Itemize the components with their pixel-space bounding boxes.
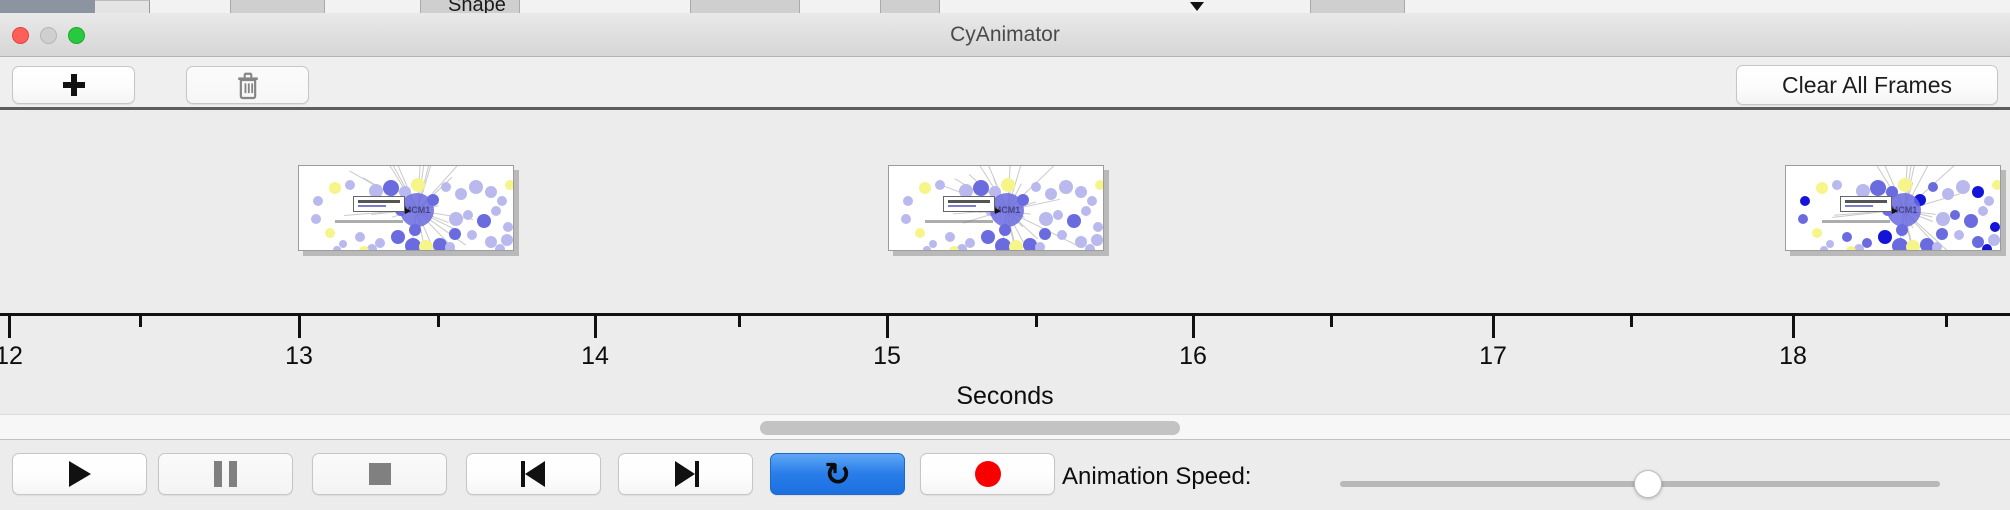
pause-icon: [214, 461, 237, 487]
network-node: [359, 246, 369, 251]
network-node: [935, 180, 945, 190]
animation-speed-label: Animation Speed:: [1062, 463, 1251, 491]
network-node: [313, 196, 323, 206]
network-node: [1820, 246, 1828, 251]
timeline-tick: [1630, 316, 1633, 327]
network-node: [449, 212, 463, 226]
network-node: [491, 206, 501, 216]
frame-thumbnail[interactable]: MCM1: [298, 165, 514, 251]
network-node: [503, 222, 513, 232]
timeline-scrollbar-track[interactable]: [0, 414, 2010, 440]
network-node: [1093, 222, 1103, 232]
network-node: [411, 178, 425, 192]
network-node: [1087, 196, 1097, 206]
network-preview: MCM1: [889, 166, 1103, 250]
network-node: [901, 214, 911, 224]
network-node: [1059, 180, 1073, 194]
clear-all-frames-button[interactable]: Clear All Frames: [1736, 65, 1998, 105]
network-node: [1798, 214, 1808, 224]
network-node: [1954, 230, 1964, 240]
delete-frame-button[interactable]: [186, 66, 309, 104]
network-node: [923, 246, 931, 251]
network-node: [919, 182, 931, 194]
network-node: [1081, 206, 1091, 216]
network-node: [345, 180, 355, 190]
network-node: [1988, 234, 2000, 246]
timeline-tick: [1792, 316, 1795, 338]
network-node: [949, 246, 959, 251]
network-node: [497, 196, 507, 206]
background-gray-block: [690, 0, 800, 13]
timeline-tick: [886, 316, 889, 338]
network-node: [445, 242, 455, 251]
timeline-axis-line: [0, 313, 2010, 316]
network-node: [1035, 242, 1045, 251]
network-tooltip: [1840, 196, 1892, 212]
network-node: [441, 182, 451, 192]
network-node: [455, 188, 467, 200]
network-node: [1898, 178, 1912, 192]
timeline-tick: [1945, 316, 1948, 327]
next-button[interactable]: [618, 453, 753, 495]
network-node: [1053, 210, 1063, 220]
timeline-tick-label: 15: [873, 342, 901, 371]
network-annotation: [1822, 220, 1890, 223]
network-node: [1972, 186, 1984, 198]
network-node: [1816, 182, 1828, 194]
network-preview: MCM1: [299, 166, 513, 250]
timeline-tick: [139, 316, 142, 327]
background-tab: [95, 0, 150, 13]
network-tooltip-arrow: [995, 208, 1001, 214]
network-node: [981, 230, 995, 244]
network-tooltip-arrow: [405, 208, 411, 214]
add-frame-button[interactable]: [12, 66, 135, 104]
network-preview: MCM1: [1786, 166, 2000, 250]
stop-icon: [369, 463, 391, 485]
pause-button[interactable]: [158, 453, 293, 495]
timeline-tick: [1330, 316, 1333, 327]
timeline-panel[interactable]: MCM1MCM1MCM1 12131415161718 Seconds: [0, 110, 2010, 414]
cyanimator-window: Shape CyAnimator Clear All Frames: [0, 0, 2010, 510]
network-node: [469, 180, 483, 194]
timeline-tick: [594, 316, 597, 338]
network-node: [1067, 214, 1081, 228]
timeline-tick-label: 18: [1779, 342, 1807, 371]
timeline-scrollbar-thumb[interactable]: [760, 421, 1180, 435]
network-node: [1950, 210, 1960, 220]
playback-control-bar: ↻ Animation Speed:: [0, 441, 2010, 510]
network-node: [973, 180, 989, 196]
network-node: [505, 180, 514, 190]
network-node: [1009, 240, 1023, 251]
background-window-label: Shape: [448, 0, 506, 13]
toolbar: Clear All Frames: [0, 57, 2010, 108]
network-node: [1956, 180, 1970, 194]
network-node: [355, 232, 365, 242]
network-node: [1039, 212, 1053, 226]
background-window-strip: Shape: [0, 0, 2010, 13]
window-title: CyAnimator: [0, 13, 2010, 57]
network-node: [329, 182, 341, 194]
network-node: [1800, 196, 1810, 206]
frame-thumbnail[interactable]: MCM1: [888, 165, 1104, 251]
timeline-tick: [738, 316, 741, 327]
network-node: [1039, 228, 1051, 240]
network-tooltip: [353, 196, 405, 212]
network-node: [915, 228, 925, 238]
previous-button[interactable]: [466, 453, 601, 495]
network-node: [311, 214, 321, 224]
network-node: [1095, 180, 1104, 190]
plus-icon: [62, 73, 86, 97]
timeline-tick-label: 17: [1479, 342, 1507, 371]
network-node: [375, 238, 385, 248]
network-node: [391, 230, 405, 244]
network-node: [383, 180, 399, 196]
network-node: [1928, 182, 1938, 192]
background-gray-block: [230, 0, 325, 13]
network-node: [477, 214, 491, 228]
record-icon: [975, 461, 1001, 487]
background-gray-block: [1310, 0, 1405, 13]
network-node: [1832, 180, 1842, 190]
trash-icon: [235, 70, 261, 100]
axis-title-seconds: Seconds: [0, 382, 2010, 411]
timeline-tick-label: 14: [581, 342, 609, 371]
network-node: [1932, 242, 1942, 251]
timeline-tick: [8, 316, 11, 338]
network-node: [965, 238, 975, 248]
network-node: [1812, 228, 1822, 238]
network-node: [1031, 182, 1041, 192]
network-node: [463, 210, 473, 220]
network-node: [449, 228, 461, 240]
network-node: [1964, 214, 1978, 228]
network-node: [1057, 230, 1067, 240]
timeline-tick: [298, 316, 301, 338]
network-node: [501, 234, 513, 246]
title-bar: CyAnimator: [0, 13, 2010, 57]
loop-button[interactable]: ↻: [770, 453, 905, 495]
network-node: [419, 240, 433, 251]
network-node: [1936, 212, 1950, 226]
network-node: [1091, 234, 1103, 246]
record-button[interactable]: [920, 453, 1055, 495]
network-node: [485, 186, 497, 198]
network-node: [1846, 246, 1856, 251]
network-annotation: [335, 220, 403, 223]
network-node: [1936, 228, 1948, 240]
network-tooltip-arrow: [1892, 208, 1898, 214]
network-node: [1942, 188, 1954, 200]
timeline-tick-label: 13: [285, 342, 313, 371]
network-node: [1984, 196, 1994, 206]
timeline-tick: [437, 316, 440, 327]
network-node: [1906, 240, 1920, 251]
timeline-tick: [1035, 316, 1038, 327]
network-node: [1992, 180, 2001, 190]
stop-button[interactable]: [312, 453, 447, 495]
network-node: [1075, 186, 1087, 198]
skip-back-icon: [521, 461, 547, 487]
clear-all-frames-label: Clear All Frames: [1782, 72, 1952, 99]
background-window-dark-block: [0, 0, 95, 13]
timeline-tick-label: 12: [0, 342, 23, 371]
loop-icon: ↻: [824, 458, 851, 490]
background-caret-icon: [1190, 2, 1204, 11]
network-node: [1001, 178, 1015, 192]
network-node: [1990, 222, 2000, 232]
network-node: [467, 230, 477, 240]
network-tooltip: [943, 196, 995, 212]
network-node: [945, 232, 955, 242]
timeline-tick: [1192, 316, 1195, 338]
timeline-tick-label: 16: [1179, 342, 1207, 371]
network-node: [1870, 180, 1886, 196]
play-icon: [69, 461, 91, 487]
skip-forward-icon: [673, 461, 699, 487]
network-node: [1878, 230, 1892, 244]
network-node: [333, 246, 341, 251]
timeline-tick: [1492, 316, 1495, 338]
network-node: [1978, 206, 1988, 216]
network-node: [1045, 188, 1057, 200]
network-node: [1842, 232, 1852, 242]
network-annotation: [925, 220, 993, 223]
background-gray-block: [880, 0, 940, 13]
network-node: [325, 228, 335, 238]
network-node: [903, 196, 913, 206]
frame-thumbnail[interactable]: MCM1: [1785, 165, 2001, 251]
play-button[interactable]: [12, 453, 147, 495]
network-node: [1862, 238, 1872, 248]
animation-speed-slider-thumb[interactable]: [1634, 470, 1662, 498]
